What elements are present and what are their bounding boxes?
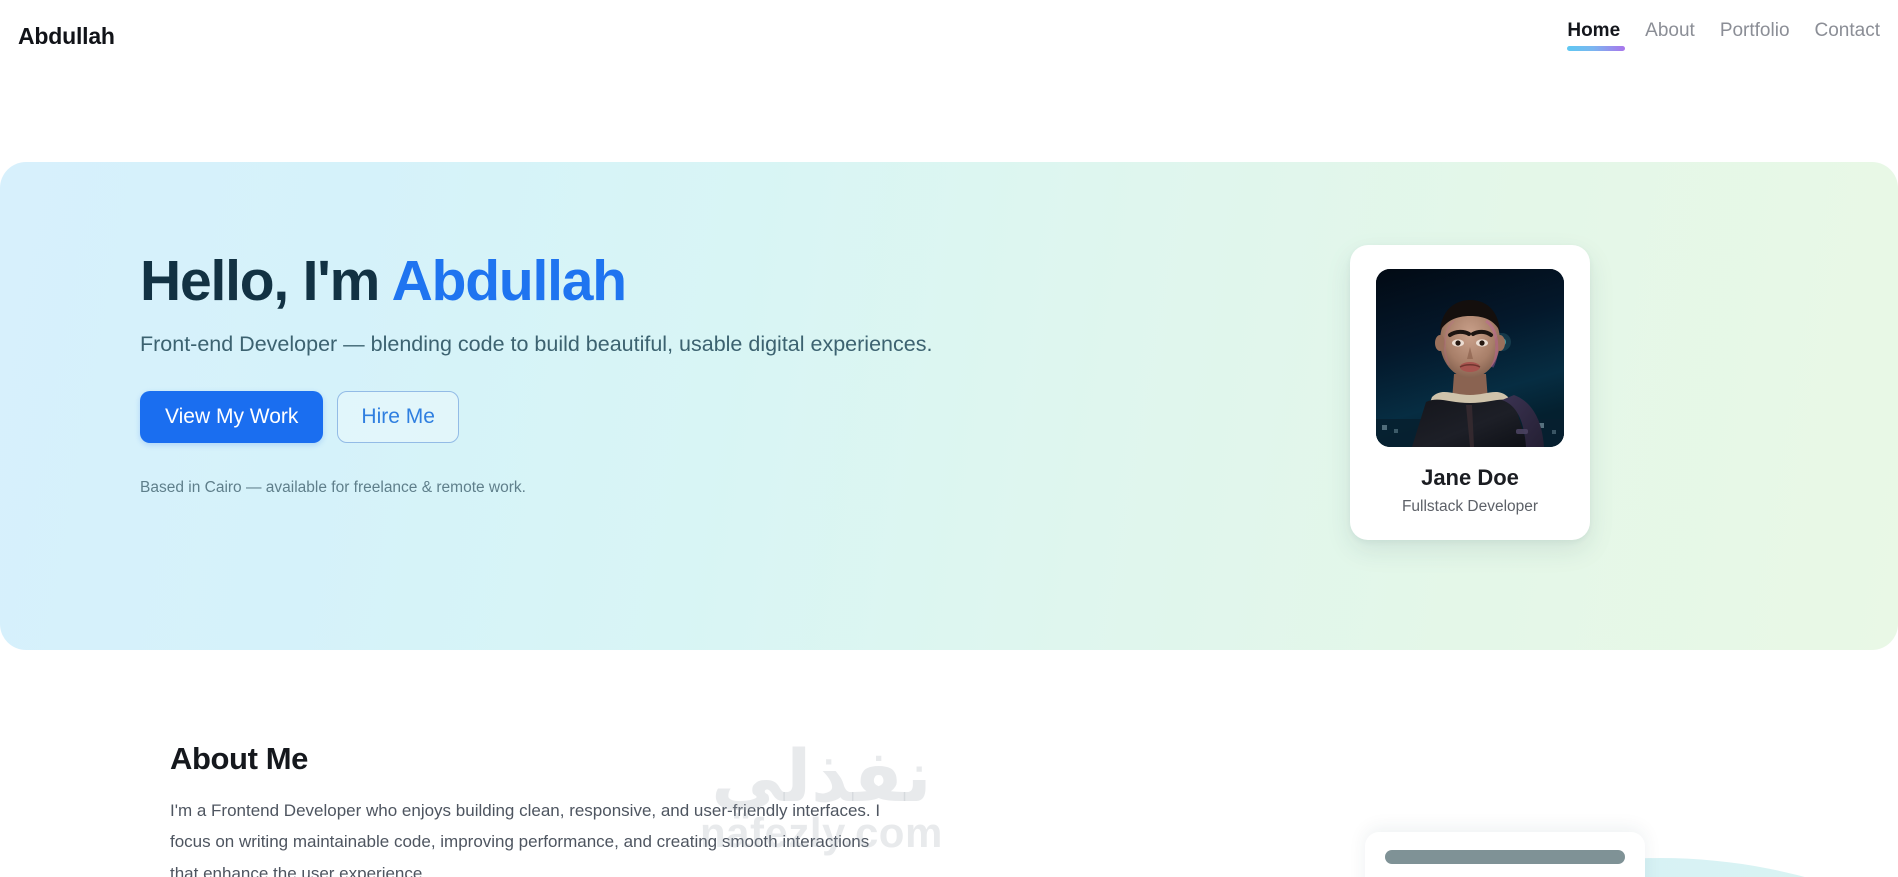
hero-subtitle: Front-end Developer — blending code to b… xyxy=(140,328,955,361)
about-text-block: About Me I'm a Frontend Developer who en… xyxy=(170,740,910,877)
hire-me-button[interactable]: Hire Me xyxy=(337,391,459,443)
nav-item-portfolio[interactable]: Portfolio xyxy=(1720,19,1790,53)
active-nav-underline xyxy=(1567,46,1625,51)
hero-name-text: Abdullah xyxy=(392,249,626,313)
profile-role: Fullstack Developer xyxy=(1370,497,1570,517)
profile-card[interactable]: Jane Doe Fullstack Developer xyxy=(1350,245,1590,540)
skeleton-bar xyxy=(1385,850,1625,864)
hero-section: Hello, I'm Abdullah Front-end Developer … xyxy=(0,162,1898,650)
nav-item-home[interactable]: Home xyxy=(1567,19,1620,53)
hero-heading: Hello, I'm Abdullah xyxy=(140,250,980,314)
main-navigation: Home About Portfolio Contact xyxy=(1567,19,1880,53)
view-my-work-button[interactable]: View My Work xyxy=(140,391,323,443)
site-header: Abdullah Home About Portfolio Contact xyxy=(0,0,1898,72)
hero-greeting-text: Hello, I'm xyxy=(140,249,392,313)
portrait-photo-night-svg xyxy=(1376,269,1564,447)
profile-photo xyxy=(1376,269,1564,447)
nav-item-contact[interactable]: Contact xyxy=(1815,19,1880,53)
nav-item-about[interactable]: About xyxy=(1645,19,1695,53)
skeleton-preview-card xyxy=(1365,832,1645,877)
hero-cta-group: View My Work Hire Me xyxy=(140,391,980,443)
about-heading: About Me xyxy=(170,740,910,777)
profile-name: Jane Doe xyxy=(1370,465,1570,491)
about-paragraph: I'm a Frontend Developer who enjoys buil… xyxy=(170,795,900,877)
hero-availability-note: Based in Cairo — available for freelance… xyxy=(140,477,980,499)
portfolio-page: Abdullah Home About Portfolio Contact He… xyxy=(0,0,1898,877)
hero-text-column: Hello, I'm Abdullah Front-end Developer … xyxy=(140,250,980,498)
brand-logo[interactable]: Abdullah xyxy=(18,25,115,48)
nav-item-home-label: Home xyxy=(1567,20,1620,41)
